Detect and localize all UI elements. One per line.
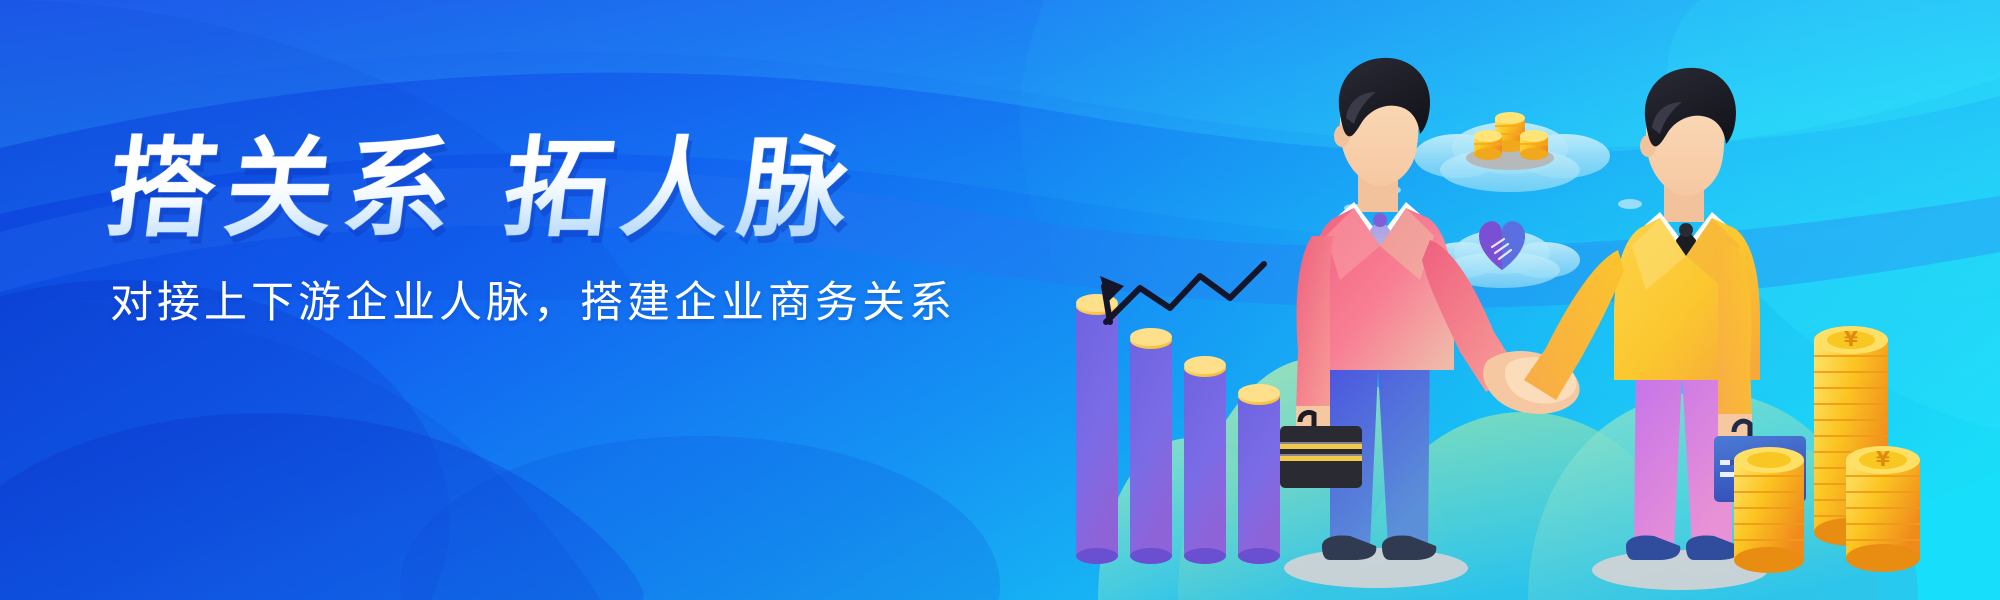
- svg-text:¥: ¥: [1844, 327, 1858, 351]
- promo-banner: 搭关系拓人脉 对接上下游企业人脉，搭建企业商务关系: [0, 0, 2000, 600]
- headline-part-1: 搭关系: [100, 127, 469, 252]
- banner-text-block: 搭关系拓人脉 对接上下游企业人脉，搭建企业商务关系: [0, 0, 1060, 600]
- chart-bar: [1076, 294, 1118, 564]
- chart-bar: [1130, 328, 1172, 564]
- handshake-illustration: ¥: [1058, 40, 1958, 600]
- chart-bar: [1238, 384, 1280, 564]
- cloud-coins-badge: [1414, 112, 1610, 192]
- headline-part-2: 拓人脉: [496, 127, 865, 252]
- chart-bar: [1184, 356, 1226, 564]
- coin-stack-front: ¥: [1846, 446, 1920, 572]
- svg-text:¥: ¥: [1876, 447, 1890, 471]
- page-title: 搭关系拓人脉: [100, 127, 865, 252]
- coin-stack-short: [1734, 447, 1804, 573]
- trend-arrow-icon: [1100, 264, 1264, 322]
- page-subtitle: 对接上下游企业人脉，搭建企业商务关系: [110, 268, 956, 330]
